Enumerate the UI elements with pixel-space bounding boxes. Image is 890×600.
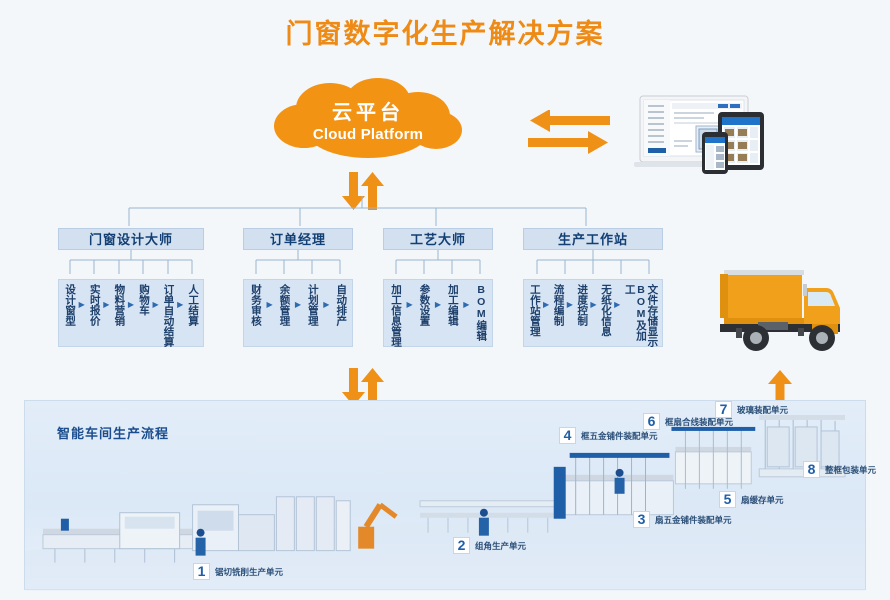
workshop-panel: 智能车间生产流程 [24, 400, 866, 590]
module-item[interactable]: 财务审核 [250, 284, 261, 326]
unit-number: 3 [633, 511, 650, 528]
workshop-unit-tag: 5 扇缓存单元 [719, 491, 784, 508]
worker-figure [615, 469, 625, 494]
unit-5-6-machinery [671, 427, 755, 489]
flow-arrow-icon: ▶ [177, 300, 183, 309]
module-item[interactable]: 余额管理 [278, 284, 289, 326]
module-column-order: 订单经理 财务审核 ▶ 余额管理 ▶ 计划管理 ▶ 自动排产 [243, 228, 353, 347]
module-item[interactable]: 参数设置 [418, 284, 429, 326]
module-item[interactable]: 进度控制 [576, 284, 587, 326]
flow-arrow-icon: ▶ [153, 300, 159, 309]
module-item[interactable]: 物料营销 [113, 284, 124, 326]
unit-3-4-machinery [554, 453, 674, 519]
module-item[interactable]: 实时报价 [88, 284, 99, 326]
module-items-process: 加工信息管理 ▶ 参数设置 ▶ 加工编辑 ▶ BOM编辑 [383, 279, 493, 347]
unit-number: 5 [719, 491, 736, 508]
brace-order [243, 250, 353, 274]
page-title: 门窗数字化生产解决方案 [0, 12, 890, 51]
flow-arrow-icon: ▶ [463, 300, 469, 309]
flow-arrow-icon: ▶ [407, 300, 413, 309]
unit-number: 1 [193, 563, 210, 580]
unit-number: 7 [715, 401, 732, 418]
module-header-workstation[interactable]: 生产工作站 [523, 228, 663, 250]
workshop-unit-tag: 3 扇五金铺件装配单元 [633, 511, 732, 528]
brace-process [383, 250, 493, 274]
unit-number: 2 [453, 537, 470, 554]
module-item[interactable]: 订单自动结算 [162, 284, 173, 347]
cloud-label-group: 云平台 Cloud Platform [268, 78, 468, 164]
solution-diagram: 门窗数字化生产解决方案 云平台 Cloud Platform [0, 0, 890, 600]
module-item[interactable]: 购物车 [138, 284, 149, 316]
brace-workstation [523, 250, 663, 274]
workshop-unit-tag: 2 组角生产单元 [453, 537, 526, 554]
unit-label: 框五金铺件装配单元 [581, 430, 658, 442]
delivery-truck-icon [700, 258, 880, 368]
worker-figure [479, 509, 489, 536]
phone-device [702, 132, 728, 174]
module-column-process: 工艺大师 加工信息管理 ▶ 参数设置 ▶ 加工编辑 ▶ BOM编辑 [383, 228, 493, 347]
device-mockup-group [630, 88, 790, 176]
module-item[interactable]: 流程编制 [552, 284, 563, 326]
flow-arrow-icon: ▶ [128, 300, 134, 309]
module-column-design: 门窗设计大师 设计窗型 ▶ 实时报价 ▶ 物料营销 ▶ 购物车 ▶ 订单自动结算… [58, 228, 204, 347]
module-item[interactable]: BOM编辑 [475, 284, 486, 341]
module-item[interactable]: 加工信息管理 [390, 284, 401, 347]
cloud-name-cn: 云平台 [332, 102, 404, 125]
worker-figure [196, 529, 206, 556]
cloud-name-en: Cloud Platform [313, 125, 423, 145]
unit-label: 扇五金铺件装配单元 [655, 514, 732, 526]
flow-arrow-icon: ▶ [103, 300, 109, 309]
module-item[interactable]: 人工结算 [187, 284, 198, 326]
module-header-process[interactable]: 工艺大师 [383, 228, 493, 250]
workshop-unit-tag: 7 玻璃装配单元 [715, 401, 788, 418]
module-item[interactable]: 设计窗型 [64, 284, 75, 326]
unit-number: 8 [803, 461, 820, 478]
flow-arrow-icon: ▶ [614, 300, 620, 309]
cloud-platform-node: 云平台 Cloud Platform [268, 78, 468, 164]
flow-arrow-icon: ▶ [567, 300, 573, 309]
unit-label: 玻璃装配单元 [737, 404, 788, 416]
module-items-workstation: 工作站管理 ▶ 流程编制 ▶ 进度控制 ▶ 无纸化信息 ▶ 文件存储显示BOM及… [523, 279, 663, 347]
workshop-unit-tag: 8 整框包装单元 [803, 461, 876, 478]
flow-arrow-icon: ▶ [323, 300, 329, 309]
unit-label: 锯切铣削生产单元 [215, 566, 283, 578]
brace-design [58, 250, 204, 274]
module-item[interactable]: 工作站管理 [529, 284, 540, 337]
unit-label: 扇缓存单元 [741, 494, 784, 506]
module-items-order: 财务审核 ▶ 余额管理 ▶ 计划管理 ▶ 自动排产 [243, 279, 353, 347]
unit-number: 4 [559, 427, 576, 444]
unit-label: 整框包装单元 [825, 464, 876, 476]
module-item[interactable]: 自动排产 [335, 284, 346, 326]
module-column-workstation: 生产工作站 工作站管理 ▶ 流程编制 ▶ 进度控制 ▶ 无纸化信息 ▶ 文件存储… [523, 228, 663, 347]
unit-number: 6 [643, 413, 660, 430]
module-item[interactable]: 计划管理 [307, 284, 318, 326]
cloud-devices-bidirectional-arrow-icon [528, 110, 610, 156]
module-items-design: 设计窗型 ▶ 实时报价 ▶ 物料营销 ▶ 购物车 ▶ 订单自动结算 ▶ 人工结算 [58, 279, 204, 347]
module-header-design[interactable]: 门窗设计大师 [58, 228, 204, 250]
module-item[interactable]: 文件存储显示BOM及加工 [623, 284, 657, 348]
workshop-unit-tag: 1 锯切铣削生产单元 [193, 563, 283, 580]
module-item[interactable]: 无纸化信息 [600, 284, 611, 337]
module-item[interactable]: 加工编辑 [447, 284, 458, 326]
flow-arrow-icon: ▶ [543, 300, 549, 309]
flow-arrow-icon: ▶ [267, 300, 273, 309]
unit-label: 组角生产单元 [475, 540, 526, 552]
module-header-order[interactable]: 订单经理 [243, 228, 353, 250]
module-columns: 门窗设计大师 设计窗型 ▶ 实时报价 ▶ 物料营销 ▶ 购物车 ▶ 订单自动结算… [58, 228, 658, 358]
flow-arrow-icon: ▶ [79, 300, 85, 309]
flow-arrow-icon: ▶ [295, 300, 301, 309]
flow-arrow-icon: ▶ [590, 300, 596, 309]
flow-arrow-icon: ▶ [435, 300, 441, 309]
